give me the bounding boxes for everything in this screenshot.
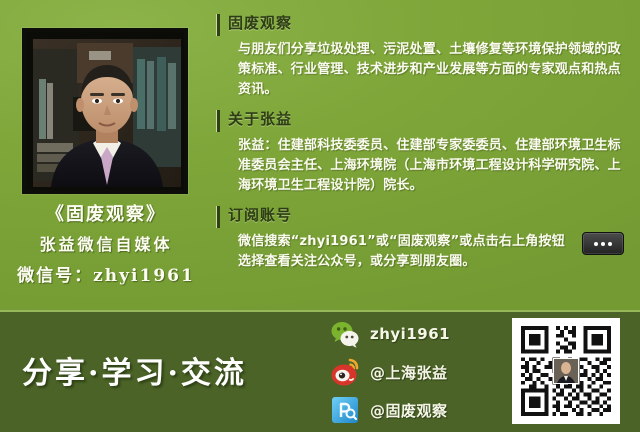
- sections: 固废观察 与朋友们分享垃圾处理、污泥处置、土壤修复等环境保护领域的政策标准、行业…: [214, 12, 632, 280]
- social-row-search[interactable]: @固废观察: [330, 392, 505, 428]
- qr-center-avatar: [553, 358, 579, 384]
- search-icon: [330, 395, 360, 425]
- section-marker-icon: [216, 14, 220, 36]
- wechat-profile-poster: 《固废观察》 张益微信自媒体 微信号：zhyi1961 固废观察 与朋友们分享垃…: [0, 0, 640, 432]
- section-about-zhangyi: 关于张益 张益：住建部科技委委员、住建部专家委委员、住建部环境卫生标准委员会主任…: [214, 108, 632, 196]
- wechat-id-line: 微信号：zhyi1961: [0, 260, 212, 292]
- section-subscribe: 订阅账号 微信搜索“zhyi1961”或“固废观察”或点击右上角按钮选择查看关注…: [214, 204, 632, 272]
- section-body: 与朋友们分享垃圾处理、污泥处置、土壤修复等环境保护领域的政策标准、行业管理、技术…: [238, 40, 632, 100]
- social-row-weibo[interactable]: @上海张益: [330, 354, 505, 390]
- section-title: 关于张益: [228, 110, 292, 128]
- wechat-qr-code[interactable]: [512, 318, 620, 424]
- section-marker-icon: [216, 110, 220, 132]
- section-header: 关于张益: [214, 108, 632, 134]
- social-list: zhyi1961 @上海张益: [330, 316, 505, 430]
- wechat-icon: [330, 319, 360, 349]
- social-label: @上海张益: [370, 362, 448, 383]
- social-row-wechat[interactable]: zhyi1961: [330, 316, 505, 352]
- more-options-button[interactable]: [582, 232, 624, 255]
- section-title: 固废观察: [228, 14, 292, 32]
- section-body: 微信搜索“zhyi1961”或“固废观察”或点击右上角按钮选择查看关注公众号，或…: [238, 232, 632, 272]
- social-label: zhyi1961: [370, 325, 450, 343]
- brand-title: 《固废观察》: [0, 200, 212, 230]
- social-label: @固废观察: [370, 400, 448, 421]
- slogan: 分享·学习·交流: [22, 348, 247, 392]
- dot-icon: [608, 242, 612, 246]
- brand-subtitle: 张益微信自媒体: [0, 230, 212, 260]
- section-header: 固废观察: [214, 12, 632, 38]
- portrait-frame: [22, 28, 188, 194]
- section-guifei-guancha: 固废观察 与朋友们分享垃圾处理、污泥处置、土壤修复等环境保护领域的政策标准、行业…: [214, 12, 632, 100]
- dot-icon: [601, 242, 605, 246]
- section-header: 订阅账号: [214, 204, 632, 230]
- weibo-icon: [330, 357, 360, 387]
- section-marker-icon: [216, 206, 220, 228]
- left-captions: 《固废观察》 张益微信自媒体 微信号：zhyi1961: [0, 200, 212, 292]
- portrait-photo: [33, 39, 181, 187]
- section-title: 订阅账号: [228, 206, 292, 224]
- section-body: 张益：住建部科技委委员、住建部专家委委员、住建部环境卫生标准委员会主任、上海环境…: [238, 136, 632, 196]
- dot-icon: [594, 242, 598, 246]
